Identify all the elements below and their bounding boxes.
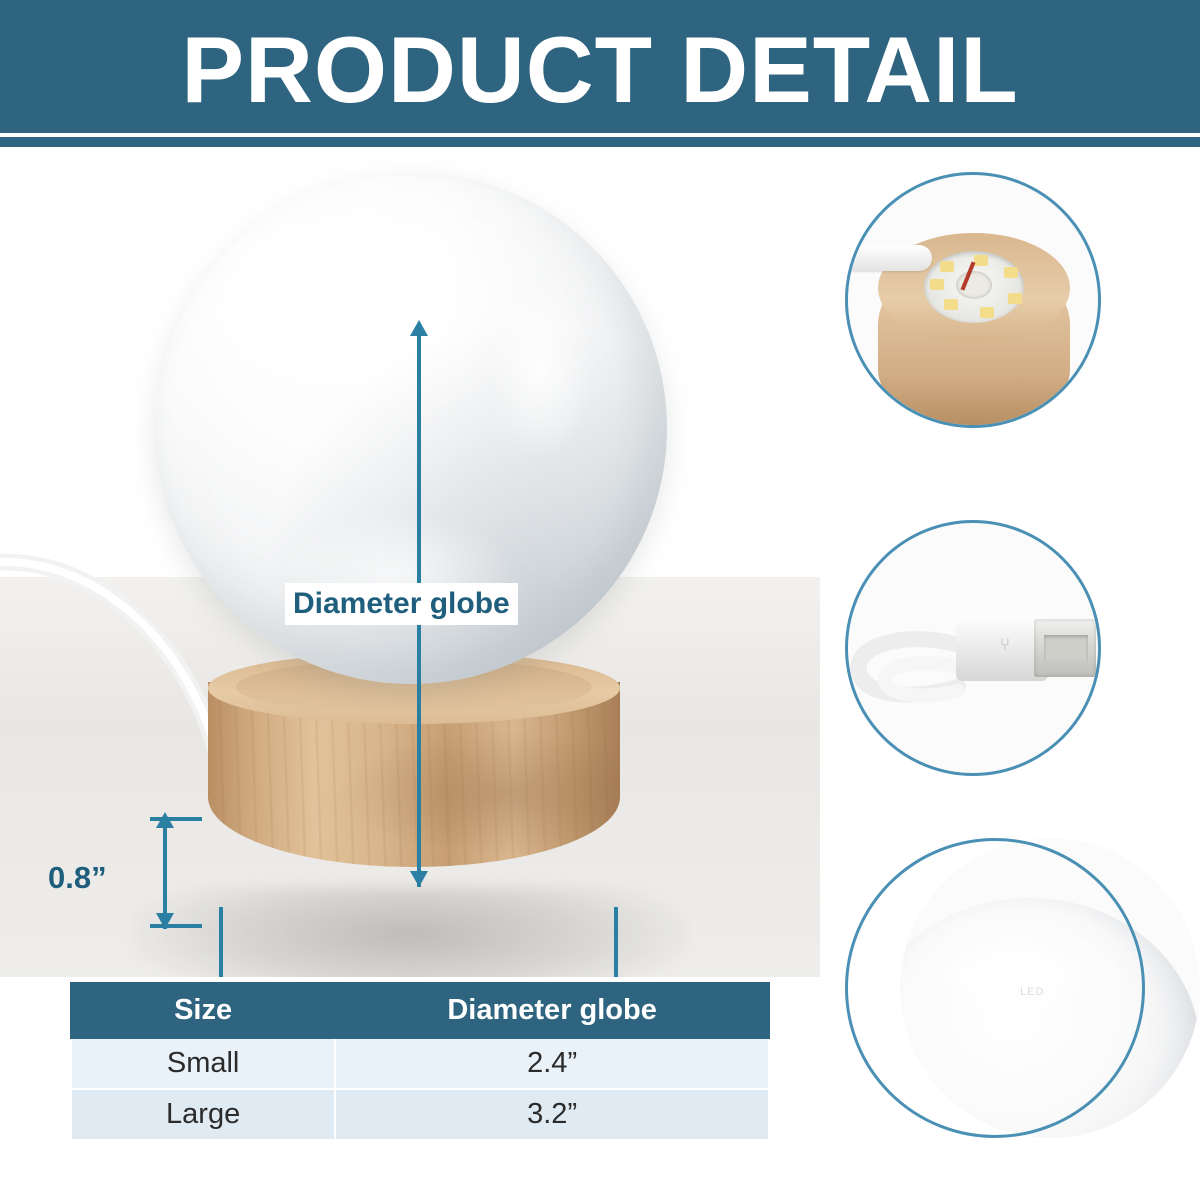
header-banner: PRODUCT DETAIL	[0, 0, 1200, 140]
table-row: Large 3.2”	[71, 1089, 769, 1140]
cell-diameter-small: 2.4”	[335, 1038, 769, 1089]
usb-icon: ⑂	[986, 635, 1024, 657]
detail-view-globe-closeup-ring	[845, 838, 1145, 1138]
table-header-diameter: Diameter globe	[335, 983, 769, 1038]
size-table: Size Diameter globe Small 2.4” Large 3.2…	[70, 982, 770, 1141]
globe-highlight-primary	[213, 214, 513, 424]
globe-diameter-label: Diameter globe	[285, 583, 518, 625]
detail-led-chip	[944, 299, 958, 310]
table-row: Small 2.4”	[71, 1038, 769, 1089]
base-height-arrow-bottom-icon	[156, 913, 174, 929]
detail-view-led-base	[845, 172, 1101, 428]
detail-led-chip	[940, 261, 954, 272]
table-header-size: Size	[71, 983, 335, 1038]
detail-led-chip	[1008, 293, 1022, 304]
detail-usb-contacts	[1044, 635, 1088, 661]
page-title: PRODUCT DETAIL	[0, 0, 1200, 140]
base-height-label: 0.8”	[48, 860, 107, 896]
header-underline	[0, 140, 1200, 147]
base-height-arrow-top-icon	[156, 812, 174, 828]
table-header-row: Size Diameter globe	[71, 983, 769, 1038]
cell-size-large: Large	[71, 1089, 335, 1140]
detail-led-chip	[930, 279, 944, 290]
detail-led-chip	[980, 307, 994, 318]
cell-size-small: Small	[71, 1038, 335, 1089]
detail-led-chip	[974, 255, 988, 266]
detail-cable	[845, 245, 932, 271]
header-divider-gap	[0, 133, 1200, 137]
wooden-base	[208, 652, 620, 902]
globe-highlight-right	[485, 292, 595, 462]
main-product-photo: Diameter globe 0.8” 3.2”	[0, 147, 820, 977]
base-width-tick-right	[614, 907, 618, 977]
detail-led-chip	[1004, 267, 1018, 278]
detail-view-usb-plug: ⑂	[845, 520, 1101, 776]
globe-diameter-arrow-top-icon	[410, 320, 428, 336]
globe-diameter-arrow-bottom-icon	[410, 871, 428, 887]
base-width-tick-left	[219, 907, 223, 977]
cell-diameter-large: 3.2”	[335, 1089, 769, 1140]
